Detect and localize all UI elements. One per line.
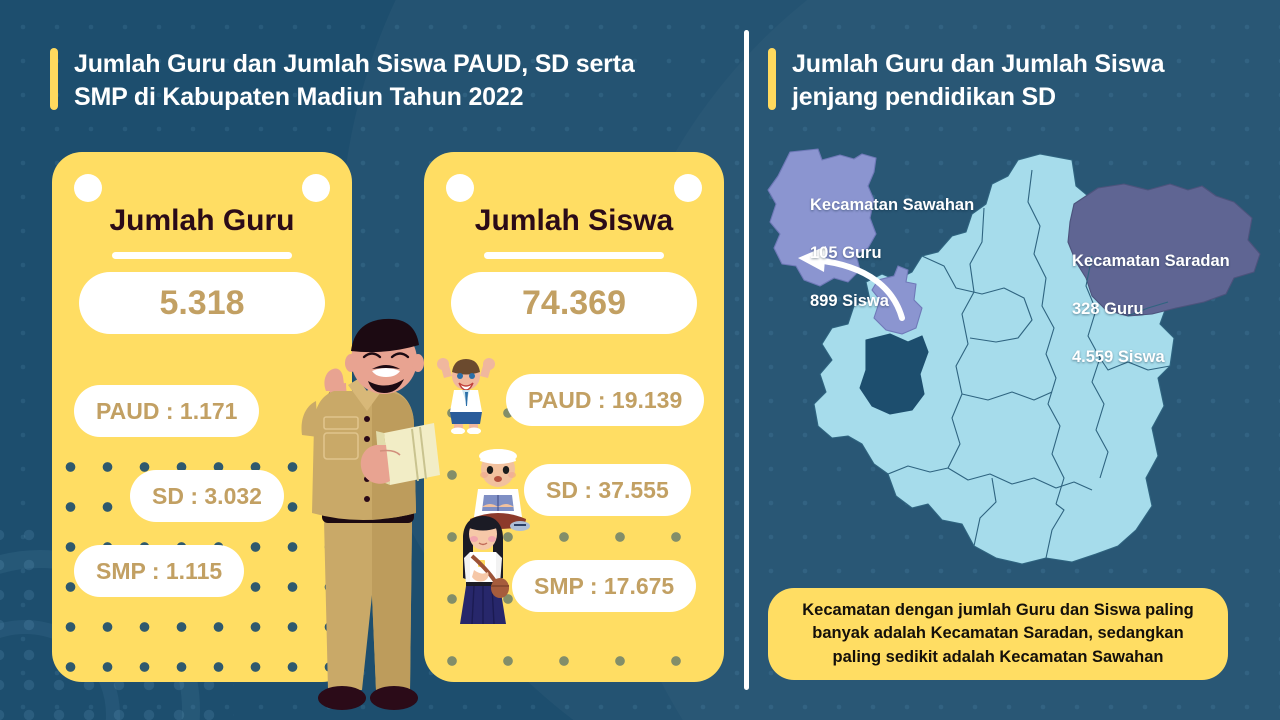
map-label-saradan: Kecamatan Saradan 328 Guru 4.559 Siswa: [1072, 226, 1230, 393]
map-label-sawahan-guru: 105 Guru: [810, 242, 974, 266]
map-label-sawahan: Kecamatan Sawahan 105 Guru 899 Siswa: [810, 170, 974, 337]
map-label-saradan-name: Kecamatan Saradan: [1072, 250, 1230, 274]
card-title-rule: [484, 252, 664, 259]
stat-pill-guru-sd: SD : 3.032: [130, 470, 284, 522]
infographic-canvas: Jumlah Guru dan Jumlah Siswa PAUD, SD se…: [0, 0, 1280, 720]
stat-pill-siswa-smp: SMP : 17.675: [512, 560, 696, 612]
card-title-rule: [112, 252, 292, 259]
map-panel: Kecamatan Sawahan 105 Guru 899 Siswa Kec…: [756, 138, 1266, 578]
stat-pill-siswa-paud: PAUD : 19.139: [506, 374, 704, 426]
vertical-divider: [744, 30, 749, 690]
right-panel-title: Jumlah Guru dan Jumlah Siswa jenjang pen…: [792, 48, 1164, 115]
total-value-siswa: 74.369: [451, 272, 697, 334]
left-panel-heading: Jumlah Guru dan Jumlah Siswa PAUD, SD se…: [50, 48, 710, 115]
right-panel-heading: Jumlah Guru dan Jumlah Siswa jenjang pen…: [768, 48, 1238, 115]
heading-accent-bar: [768, 48, 776, 110]
map-label-saradan-guru: 328 Guru: [1072, 298, 1230, 322]
card-punch-hole-right: [674, 174, 702, 202]
map-label-sawahan-siswa: 899 Siswa: [810, 290, 974, 314]
boy-student-illustration: [432, 358, 500, 434]
left-panel-title: Jumlah Guru dan Jumlah Siswa PAUD, SD se…: [74, 48, 635, 115]
card-title-siswa: Jumlah Siswa: [424, 204, 724, 238]
card-title-guru: Jumlah Guru: [52, 204, 352, 238]
map-label-saradan-siswa: 4.559 Siswa: [1072, 346, 1230, 370]
heading-accent-bar: [50, 48, 58, 110]
map-label-sawahan-name: Kecamatan Sawahan: [810, 194, 974, 218]
map-region-dark-wedge: [860, 334, 928, 414]
girl-student-illustration: [450, 512, 516, 630]
card-punch-hole-left: [446, 174, 474, 202]
card-punch-hole-right: [302, 174, 330, 202]
stat-pill-siswa-sd: SD : 37.555: [524, 464, 691, 516]
summary-caption: Kecamatan dengan jumlah Guru dan Siswa p…: [768, 588, 1228, 680]
stat-pill-guru-paud: PAUD : 1.171: [74, 385, 259, 437]
card-punch-hole-left: [74, 174, 102, 202]
stat-pill-guru-smp: SMP : 1.115: [74, 545, 244, 597]
